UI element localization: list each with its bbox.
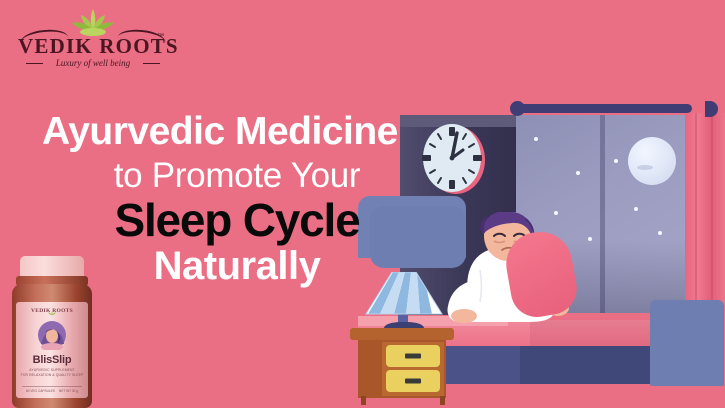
bed-footboard [650,300,724,386]
curtain [685,113,725,305]
star-icon [658,231,662,235]
bottle-cap [20,256,84,278]
star-icon [576,171,580,175]
nightstand-leg [440,396,445,405]
nightstand-drawer-bottom[interactable] [386,370,440,392]
bottle-label: VEDIK ROOTS BlisSlip AYURVEDIC SUPPLEMEN… [16,302,88,398]
star-icon [634,207,638,211]
product-capsule-count: 60 VEG CAPSULES [26,389,55,393]
logo-trademark: ™ [157,33,164,40]
curtain-rod-finial-left [510,101,525,116]
logo-tagline: Luxury of well being [18,58,168,68]
headline-line-3: Sleep Cycle [42,197,432,244]
headline-line-4: Naturally [42,246,432,287]
curtain-fold [711,113,713,305]
product-bottle[interactable]: VEDIK ROOTS BlisSlip AYURVEDIC SUPPLEMEN… [4,256,100,408]
logo-brand-text: VEDIK ROOTS [18,34,168,59]
moon-icon [628,137,676,185]
page-title: Ayurvedic Medicine to Promote Your Sleep… [42,112,432,287]
banner-root: VEDIK ROOTS ™ Luxury of well being Ayurv… [0,0,725,408]
label-brand-text: VEDIK ROOTS [16,308,88,314]
headline-line-1: Ayurvedic Medicine [42,112,432,152]
vedik-roots-logo[interactable]: VEDIK ROOTS ™ Luxury of well being [18,6,168,74]
product-label-footer: 60 VEG CAPSULES NET WT 30 g [22,386,82,393]
curtain-fold [695,113,697,305]
sleeping-woman-illustration [35,320,69,350]
curtain-rod [516,104,692,113]
nightstand-leg [361,396,366,405]
drawer-handle-icon [405,379,421,384]
star-icon [534,137,538,141]
star-icon [614,159,618,163]
product-name: BlisSlip [16,354,88,366]
product-subtext-1: AYURVEDIC SUPPLEMENT [16,368,88,372]
nightstand-drawer-top[interactable] [386,345,440,367]
headline-line-2: to Promote Your [42,158,432,194]
product-subtext-2: FOR RELAXATION & QUALITY SLEEP [16,373,88,377]
drawer-handle-icon [405,354,421,359]
product-net-weight: NET WT 30 g [59,389,78,393]
